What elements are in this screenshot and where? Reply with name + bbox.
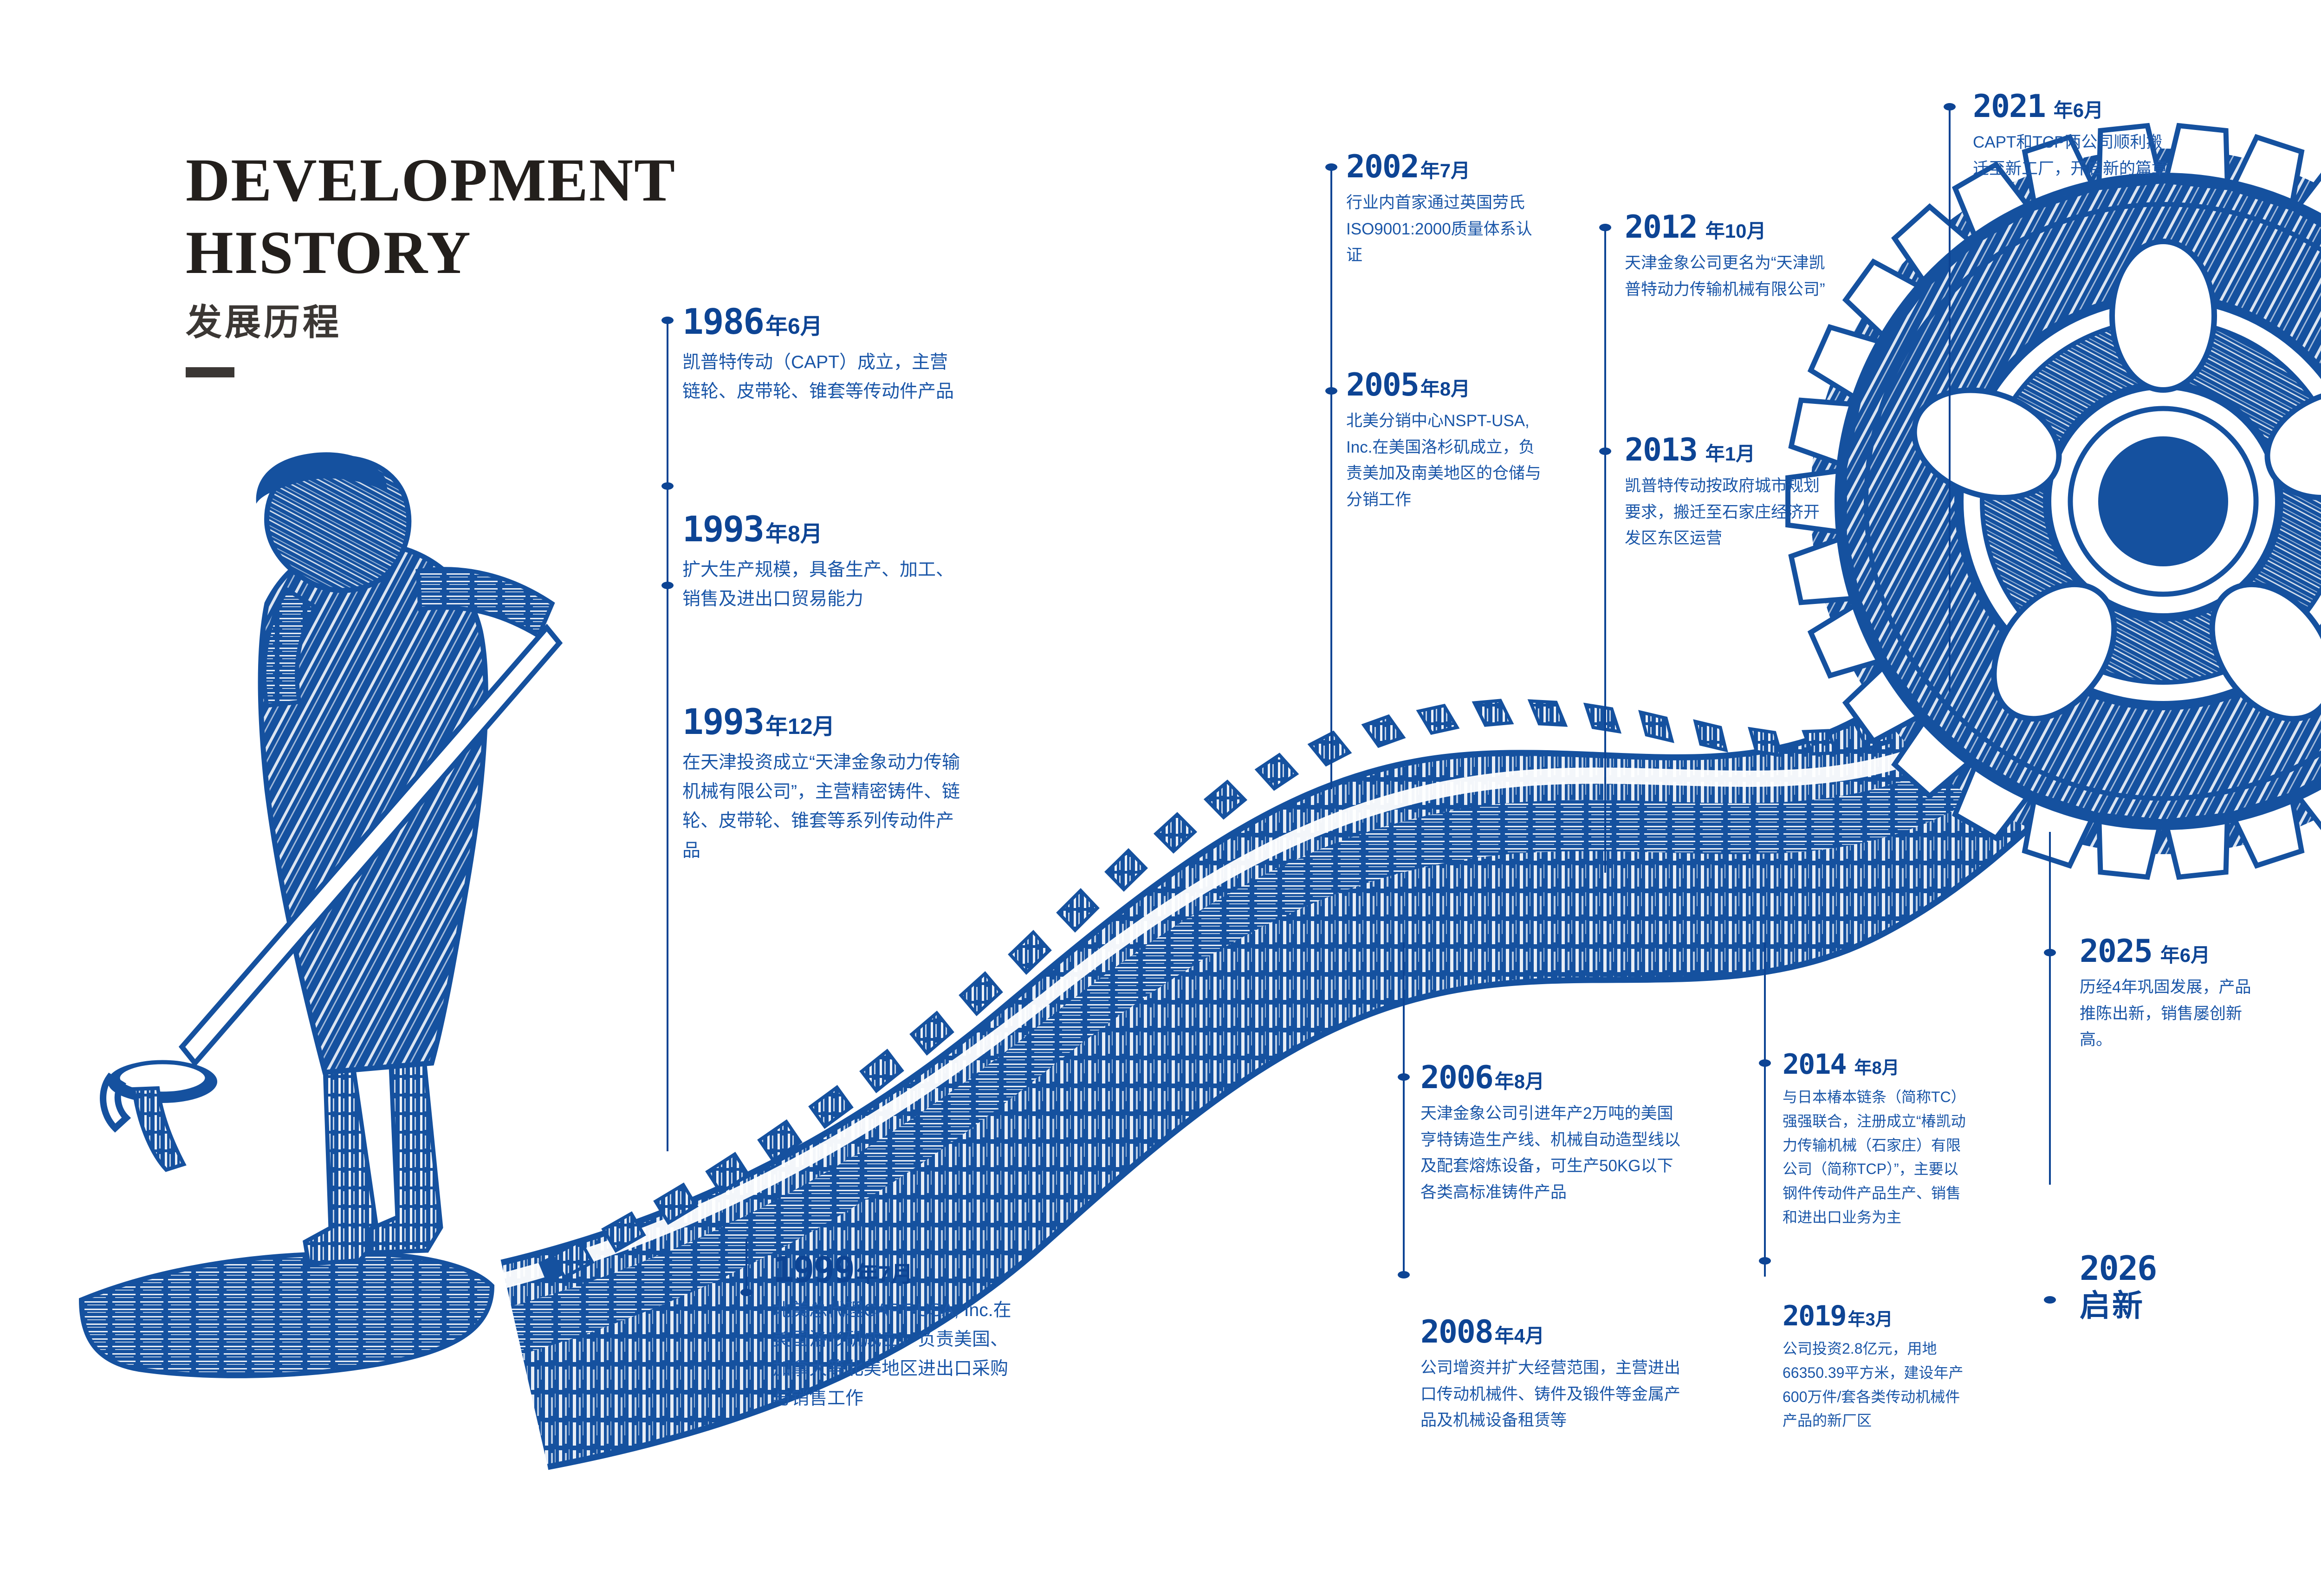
event-headline: 2005年8月 bbox=[1346, 367, 1541, 403]
event-headline: 2002年7月 bbox=[1346, 149, 1541, 185]
event-body: 行业内首家通过英国劳氏ISO9001:2000质量体系认证 bbox=[1346, 190, 1541, 269]
event-body: 北美分销中心NSPT-USA, Inc.在美国洛杉矶成立，负责美加及南美地区的仓… bbox=[1346, 408, 1541, 513]
event-year: 2014 bbox=[1783, 1048, 1846, 1081]
connector-dot-1993-12[interactable] bbox=[661, 582, 674, 589]
event-month: 年7月 bbox=[1420, 155, 1470, 183]
event-year: 2025 bbox=[2080, 933, 2152, 970]
event-month: 年7月 bbox=[856, 1256, 913, 1288]
foundry-worker-illustration bbox=[81, 452, 559, 1376]
event-year: 2012 bbox=[1625, 209, 1697, 246]
event-year: 1993 bbox=[682, 701, 764, 742]
connector-dot-2005[interactable] bbox=[1325, 387, 1337, 395]
timeline-event-2019-03[interactable]: 2019年3月 公司投资2.8亿元，用地66350.39平方米，建设年产600万… bbox=[1783, 1300, 1968, 1433]
timeline-event-1993-08[interactable]: 1993年8月 扩大生产规模，具备生产、加工、销售及进出口贸易能力 bbox=[682, 508, 966, 614]
sprocket-gear-illustration bbox=[1788, 126, 2321, 877]
event-headline: 2026 bbox=[2080, 1249, 2265, 1288]
event-month: 年10月 bbox=[1705, 215, 1766, 244]
connector-line bbox=[1764, 942, 1766, 1277]
event-headline: 1986年6月 bbox=[682, 301, 966, 342]
event-body: CAPT和TCP两公司顺利搬迁至新工厂，开启新的篇章 bbox=[1973, 130, 2168, 182]
timeline-event-2002-07[interactable]: 2002年7月 行业内首家通过英国劳氏ISO9001:2000质量体系认证 bbox=[1346, 149, 1541, 269]
page-title: DEVELOPMENT HISTORY 发展历程 bbox=[186, 144, 676, 377]
event-year: 1986 bbox=[682, 301, 764, 342]
timeline-event-1999-07[interactable]: 1999年7月 北美总代理CAPT-USA, Inc.在美国洛杉矶成立，负责美国… bbox=[773, 1249, 1024, 1413]
event-headline: 1993年12月 bbox=[682, 701, 970, 742]
timeline-event-2014-08[interactable]: 2014年8月 与日本椿本链条（简称TC）强强联合，注册成立“椿凯动力传输机械（… bbox=[1783, 1048, 1968, 1230]
event-month: 年4月 bbox=[1495, 1320, 1544, 1349]
connector-dot-2019[interactable] bbox=[1759, 1257, 1771, 1265]
event-year: 2019 bbox=[1783, 1300, 1846, 1332]
timeline-event-1986-06[interactable]: 1986年6月 凯普特传动（CAPT）成立，主营链轮、皮带轮、锥套等传动件产品 bbox=[682, 301, 966, 406]
event-body: 扩大生产规模，具备生产、加工、销售及进出口贸易能力 bbox=[682, 555, 966, 614]
event-body: 凯普特传动（CAPT）成立，主营链轮、皮带轮、锥套等传动件产品 bbox=[682, 348, 966, 406]
event-month: 年12月 bbox=[765, 708, 835, 740]
timeline-event-2026[interactable]: 2026 启新 bbox=[2080, 1249, 2265, 1323]
event-month: 年8月 bbox=[765, 515, 823, 548]
timeline-event-2021-06[interactable]: 2021年6月 CAPT和TCP两公司顺利搬迁至新工厂，开启新的篇章 bbox=[1973, 88, 2168, 182]
event-body: 公司投资2.8亿元，用地66350.39平方米，建设年产600万件/套各类传动机… bbox=[1783, 1337, 1968, 1433]
connector-dot-1993-08[interactable] bbox=[661, 482, 674, 490]
event-headline: 2019年3月 bbox=[1783, 1300, 1968, 1332]
event-body: 北美总代理CAPT-USA, Inc.在美国洛杉矶成立，负责美国、加拿大等北美地… bbox=[773, 1296, 1024, 1413]
timeline-event-2025-06[interactable]: 2025年6月 历经4年巩固发展，产品推陈出新，销售屡创新高。 bbox=[2080, 933, 2265, 1053]
event-headline: 2008年4月 bbox=[1420, 1314, 1680, 1350]
event-month: 年6月 bbox=[2054, 95, 2103, 123]
connector-dot-2025[interactable] bbox=[2044, 949, 2056, 956]
event-year: 2008 bbox=[1420, 1314, 1493, 1350]
title-subtitle: 发展历程 bbox=[186, 299, 676, 346]
timeline-event-2012-10[interactable]: 2012年10月 天津金象公司更名为“天津凯普特动力传输机械有限公司” bbox=[1625, 209, 1829, 303]
event-year: 2005 bbox=[1346, 367, 1419, 403]
connector-dot-1999[interactable] bbox=[740, 1289, 752, 1296]
event-year: 1993 bbox=[682, 508, 764, 550]
connector-dot-2013[interactable] bbox=[1599, 448, 1611, 455]
event-headline: 2006年8月 bbox=[1420, 1059, 1680, 1096]
connector-line bbox=[1403, 942, 1405, 1277]
connector-dot-2012[interactable] bbox=[1599, 224, 1611, 231]
event-year: 2021 bbox=[1973, 88, 2045, 125]
event-month: 年8月 bbox=[1420, 373, 1470, 402]
connector-dot-2026[interactable] bbox=[2044, 1296, 2056, 1304]
event-month: 年6月 bbox=[765, 308, 823, 340]
connector-dot-2002[interactable] bbox=[1325, 163, 1337, 171]
timeline-event-2005-08[interactable]: 2005年8月 北美分销中心NSPT-USA, Inc.在美国洛杉矶成立，负责美… bbox=[1346, 367, 1541, 513]
event-headline: 2012年10月 bbox=[1625, 209, 1829, 246]
event-month: 年8月 bbox=[1495, 1066, 1544, 1094]
event-headline: 1999年7月 bbox=[773, 1249, 1024, 1290]
event-year: 2013 bbox=[1625, 432, 1697, 468]
event-body: 凯普特传动按政府城市规划要求，搬迁至石家庄经济开发区东区运营 bbox=[1625, 473, 1829, 552]
event-tagline: 启新 bbox=[2080, 1289, 2265, 1323]
event-body: 在天津投资成立“天津金象动力传输机械有限公司”，主营精密铸件、链轮、皮带轮、锥套… bbox=[682, 748, 970, 865]
title-line-1: DEVELOPMENT bbox=[186, 144, 676, 216]
connector-line bbox=[1949, 107, 1951, 692]
connector-dot-2006[interactable] bbox=[1398, 1073, 1410, 1081]
event-headline: 2021年6月 bbox=[1973, 88, 2168, 125]
connector-line bbox=[1604, 227, 1606, 873]
timeline-event-2006-08[interactable]: 2006年8月 天津金象公司引进年产2万吨的美国亨特铸造生产线、机械自动造型线以… bbox=[1420, 1059, 1680, 1206]
connector-dot-2008[interactable] bbox=[1398, 1271, 1410, 1278]
connector-line bbox=[667, 320, 668, 1151]
connector-dot-1986[interactable] bbox=[661, 317, 674, 324]
event-year: 2002 bbox=[1346, 149, 1419, 185]
event-body: 天津金象公司引进年产2万吨的美国亨特铸造生产线、机械自动造型线以及配套熔炼设备，… bbox=[1420, 1101, 1680, 1206]
timeline-event-2008-04[interactable]: 2008年4月 公司增资并扩大经营范围，主营进出口传动机械件、铸件及锻件等金属产… bbox=[1420, 1314, 1680, 1434]
connector-dot-2014[interactable] bbox=[1759, 1059, 1771, 1067]
timeline-event-1993-12[interactable]: 1993年12月 在天津投资成立“天津金象动力传输机械有限公司”，主营精密铸件、… bbox=[682, 701, 970, 865]
event-body: 历经4年巩固发展，产品推陈出新，销售屡创新高。 bbox=[2080, 974, 2265, 1053]
event-month: 年8月 bbox=[1854, 1053, 1900, 1079]
event-body: 与日本椿本链条（简称TC）强强联合，注册成立“椿凯动力传输机械（石家庄）有限公司… bbox=[1783, 1085, 1968, 1230]
timeline-event-2013-01[interactable]: 2013年1月 凯普特传动按政府城市规划要求，搬迁至石家庄经济开发区东区运营 bbox=[1625, 432, 1829, 552]
event-headline: 2013年1月 bbox=[1625, 432, 1829, 468]
title-underline-rule bbox=[186, 367, 234, 377]
connector-line bbox=[1330, 167, 1332, 789]
event-month: 年3月 bbox=[1848, 1305, 1893, 1330]
event-body: 天津金象公司更名为“天津凯普特动力传输机械有限公司” bbox=[1625, 250, 1829, 303]
event-year: 1999 bbox=[773, 1249, 854, 1290]
title-line-2: HISTORY bbox=[186, 216, 676, 289]
event-year: 2006 bbox=[1420, 1059, 1493, 1096]
event-month: 年1月 bbox=[1705, 438, 1755, 467]
event-month: 年6月 bbox=[2160, 940, 2210, 968]
connector-dot-2021[interactable] bbox=[1944, 103, 1956, 110]
event-body: 公司增资并扩大经营范围，主营进出口传动机械件、铸件及锻件等金属产品及机械设备租赁… bbox=[1420, 1355, 1680, 1434]
event-headline: 1993年8月 bbox=[682, 508, 966, 550]
connector-line bbox=[746, 1239, 747, 1294]
event-year: 2026 bbox=[2080, 1249, 2156, 1288]
event-headline: 2014年8月 bbox=[1783, 1048, 1968, 1081]
connector-line bbox=[2049, 832, 2051, 1185]
event-headline: 2025年6月 bbox=[2080, 933, 2265, 970]
